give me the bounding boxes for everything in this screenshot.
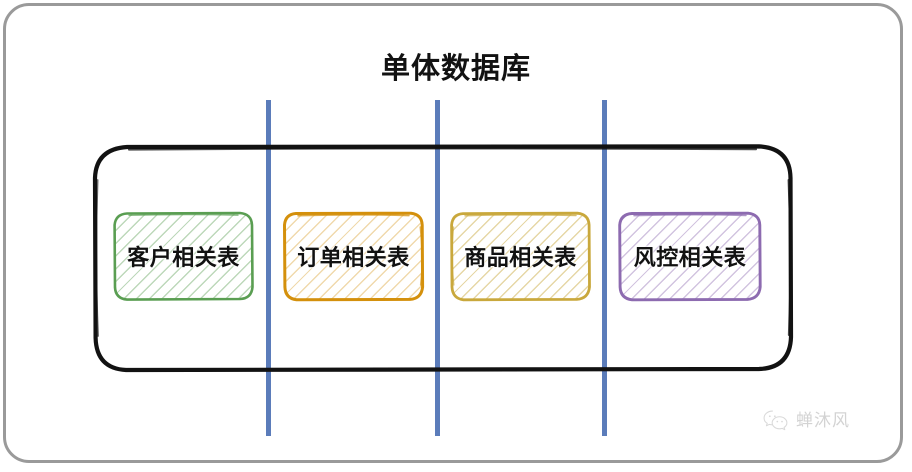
diagram-canvas: 单体数据库 客户相关表	[0, 0, 912, 472]
table-box-risk-label: 风控相关表	[618, 211, 762, 301]
table-box-product[interactable]: 商品相关表	[450, 211, 591, 301]
table-box-product-label: 商品相关表	[450, 211, 591, 301]
watermark-text: 蝉沐风	[796, 411, 850, 431]
table-box-risk[interactable]: 风控相关表	[618, 211, 762, 301]
table-box-customer-label: 客户相关表	[113, 211, 254, 301]
page-title: 单体数据库	[0, 52, 912, 86]
watermark: 蝉沐风	[763, 410, 850, 432]
wechat-icon	[763, 410, 789, 432]
table-box-order[interactable]: 订单相关表	[283, 211, 424, 301]
table-box-order-label: 订单相关表	[283, 211, 424, 301]
table-box-customer[interactable]: 客户相关表	[113, 211, 254, 301]
